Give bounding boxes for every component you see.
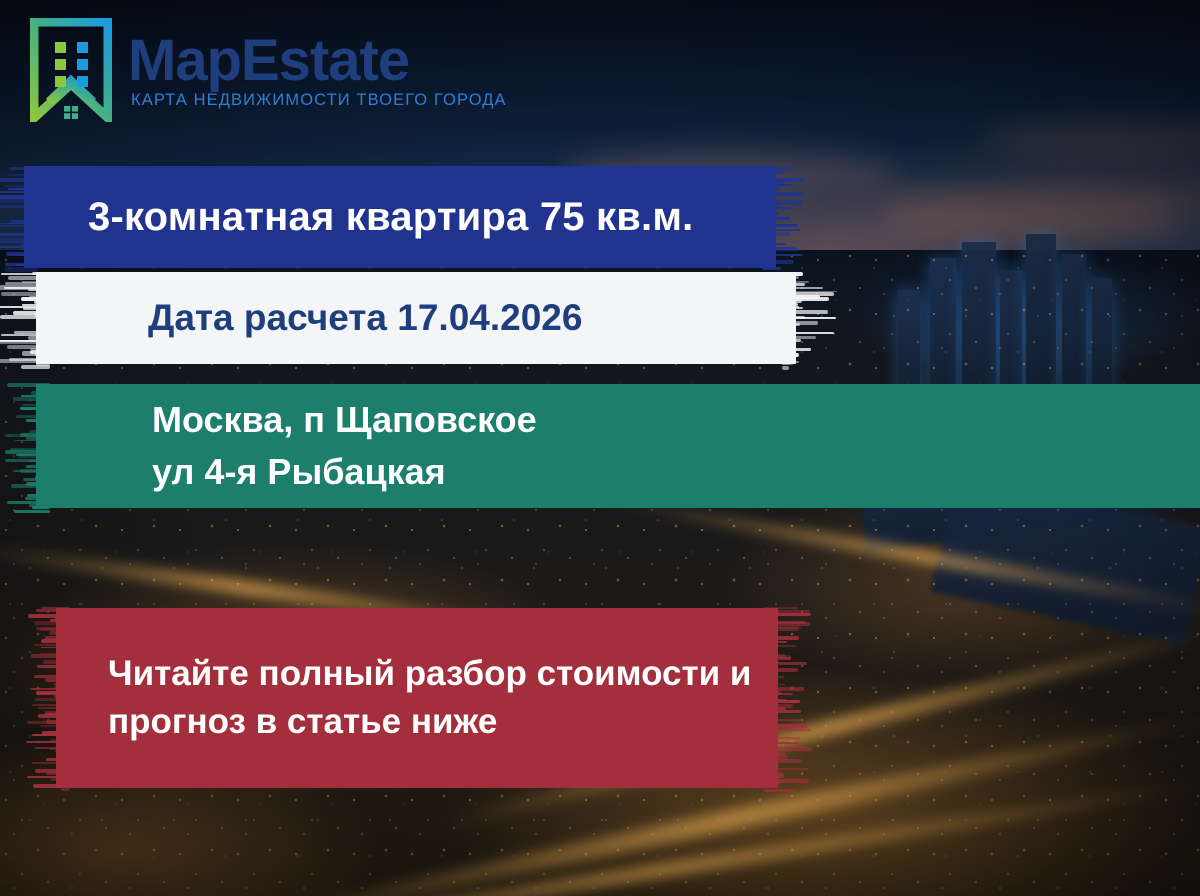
date-banner: Дата расчета 17.04.2026 — [36, 272, 796, 364]
property-address: Москва, п Щаповское ул 4-я Рыбацкая — [36, 394, 1200, 498]
promo-card: MapEstate КАРТА НЕДВИЖИМОСТИ ТВОЕГО ГОРО… — [0, 0, 1200, 896]
title-banner: 3-комнатная квартира 75 кв.м. — [24, 166, 776, 268]
brand-logo[interactable]: MapEstate КАРТА НЕДВИЖИМОСТИ ТВОЕГО ГОРО… — [30, 18, 507, 122]
address-line-1: Москва, п Щаповское — [152, 394, 1200, 446]
calculation-date: Дата расчета 17.04.2026 — [36, 297, 796, 339]
cta-message: Читайте полный разбор стоимости и прогно… — [56, 650, 778, 747]
brand-tagline: КАРТА НЕДВИЖИМОСТИ ТВОЕГО ГОРОДА — [128, 92, 507, 109]
brand-name: MapEstate — [128, 32, 507, 90]
cta-line-1: Читайте полный разбор — [108, 654, 527, 693]
address-line-2: ул 4-я Рыбацкая — [152, 446, 1200, 498]
property-title: 3-комнатная квартира 75 кв.м. — [24, 195, 776, 240]
map-estate-bookmark-building-icon — [30, 18, 112, 122]
brand-text: MapEstate КАРТА НЕДВИЖИМОСТИ ТВОЕГО ГОРО… — [128, 32, 507, 109]
cta-banner: Читайте полный разбор стоимости и прогно… — [56, 608, 778, 788]
cta-line-3: ниже — [411, 702, 497, 741]
address-banner: Москва, п Щаповское ул 4-я Рыбацкая — [36, 384, 1200, 508]
